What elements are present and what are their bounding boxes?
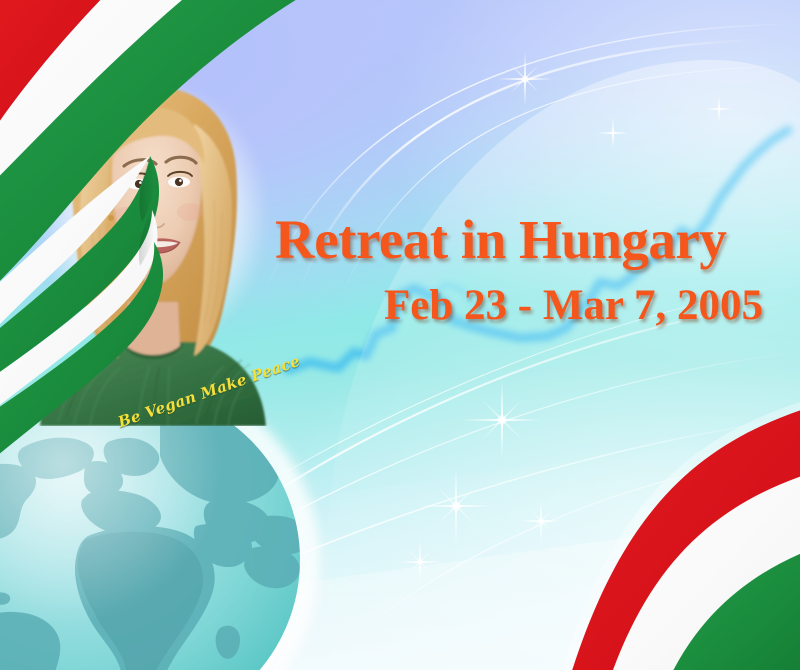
poster-titles: Retreat in Hungary Feb 23 - Mar 7, 2005 <box>0 0 800 670</box>
page-title: Retreat in Hungary <box>275 211 726 269</box>
retreat-poster: Be Vegan Make Peace <box>0 0 800 670</box>
poster-date-range: Feb 23 - Mar 7, 2005 <box>384 283 763 329</box>
